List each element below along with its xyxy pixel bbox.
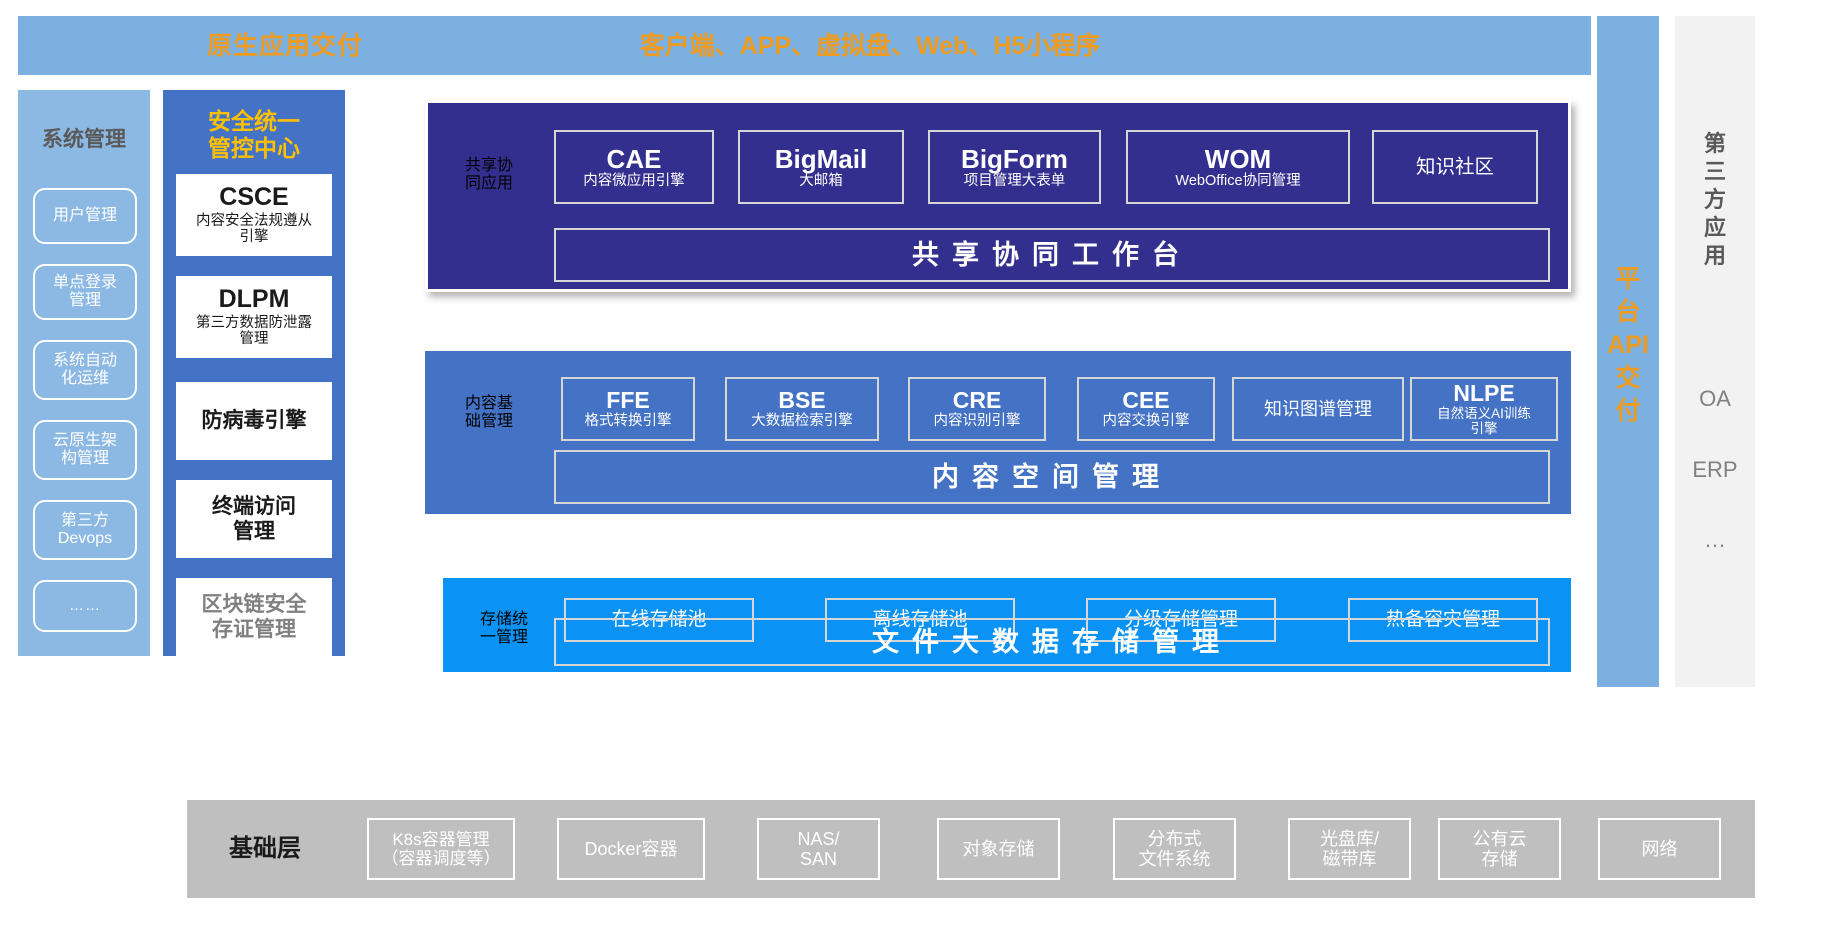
base-item-k8s[interactable]: K8s容器管理（容器调度等） <box>367 818 515 880</box>
content-space-management-bar[interactable]: 内容空间管理 <box>554 450 1550 504</box>
engine-card-nlpe-desc: 自然语义AI训练引擎 <box>1437 406 1531 436</box>
engine-card-nlpe-code: NLPE <box>1453 381 1514 406</box>
security-control-center-title: 安全统一管控中心 <box>163 102 345 168</box>
security-card-csce-code: CSCE <box>219 184 288 212</box>
app-card-wom-code: WOM <box>1205 145 1271 173</box>
app-card-bigmail[interactable]: BigMail 大邮箱 <box>738 130 904 204</box>
security-card-csce[interactable]: CSCE 内容安全法规遵从引擎 <box>176 174 332 256</box>
security-card-blockchain-evidence-label: 区块链安全存证管理 <box>202 592 307 642</box>
content-management-label: 内容基础管理 <box>434 378 544 448</box>
base-item-network[interactable]: 网络 <box>1598 818 1721 880</box>
base-item-docker[interactable]: Docker容器 <box>557 818 705 880</box>
security-card-antivirus-engine-label: 防病毒引擎 <box>202 408 307 433</box>
base-layer-title: 基础层 <box>205 826 325 872</box>
third-party-app-title: 第三方应用 <box>1675 110 1755 290</box>
engine-card-ffe-desc: 格式转换引擎 <box>585 413 672 429</box>
app-card-bigmail-desc: 大邮箱 <box>799 173 843 189</box>
third-party-item-oa: OA <box>1699 387 1731 412</box>
app-card-cae[interactable]: CAE 内容微应用引擎 <box>554 130 714 204</box>
base-item-optical-tape-library[interactable]: 光盘库/磁带库 <box>1288 818 1411 880</box>
app-card-wom-desc: WebOffice协同管理 <box>1175 173 1300 189</box>
security-card-blockchain-evidence[interactable]: 区块链安全存证管理 <box>176 578 332 656</box>
engine-card-cee-desc: 内容交换引擎 <box>1103 413 1190 429</box>
base-item-distributed-fs[interactable]: 分布式文件系统 <box>1113 818 1236 880</box>
base-item-public-cloud-storage[interactable]: 公有云存储 <box>1438 818 1561 880</box>
app-card-knowledge-community[interactable]: 知识社区 <box>1372 130 1538 204</box>
sidebar-item-third-party-devops[interactable]: 第三方Devops <box>33 500 137 560</box>
base-item-object-storage[interactable]: 对象存储 <box>937 818 1060 880</box>
app-card-knowledge-community-label: 知识社区 <box>1416 156 1494 178</box>
third-party-item-erp: ERP <box>1692 458 1737 483</box>
app-card-bigform-code: BigForm <box>961 145 1068 173</box>
third-party-item-more: … <box>1704 528 1726 553</box>
system-management-title: 系统管理 <box>18 120 150 160</box>
sidebar-item-more[interactable]: …… <box>33 580 137 632</box>
app-card-bigform[interactable]: BigForm 项目管理大表单 <box>928 130 1101 204</box>
third-party-app-list: OA ERP … <box>1675 370 1755 570</box>
engine-card-cee[interactable]: CEE 内容交换引擎 <box>1077 377 1215 441</box>
engine-card-knowledge-graph-label: 知识图谱管理 <box>1264 399 1372 420</box>
engine-card-ffe-code: FFE <box>606 388 649 413</box>
engine-card-cee-code: CEE <box>1122 388 1169 413</box>
engine-card-bse-code: BSE <box>778 388 825 413</box>
sidebar-item-sso-management[interactable]: 单点登录管理 <box>33 264 137 320</box>
sidebar-item-automated-ops[interactable]: 系统自动化运维 <box>33 340 137 400</box>
app-card-cae-code: CAE <box>607 145 662 173</box>
native-app-delivery-label: 原生应用交付 <box>170 16 400 75</box>
client-channels-label: 客户端、APP、虚拟盘、Web、H5小程序 <box>545 16 1195 75</box>
app-card-bigmail-code: BigMail <box>775 145 867 173</box>
base-item-nas-san[interactable]: NAS/SAN <box>757 818 880 880</box>
engine-card-cre[interactable]: CRE 内容识别引擎 <box>908 377 1046 441</box>
security-card-endpoint-access-label: 终端访问管理 <box>212 494 296 544</box>
security-card-antivirus-engine[interactable]: 防病毒引擎 <box>176 382 332 460</box>
sidebar-item-user-management[interactable]: 用户管理 <box>33 188 137 244</box>
share-collaboration-workbench-bar[interactable]: 共享协同工作台 <box>554 228 1550 282</box>
app-card-cae-desc: 内容微应用引擎 <box>583 173 685 189</box>
app-card-wom[interactable]: WOM WebOffice协同管理 <box>1126 130 1350 204</box>
engine-card-knowledge-graph[interactable]: 知识图谱管理 <box>1232 377 1404 441</box>
storage-management-label: 存储统一管理 <box>450 598 558 660</box>
sidebar-item-cloud-native-architecture[interactable]: 云原生架构管理 <box>33 420 137 480</box>
security-card-endpoint-access[interactable]: 终端访问管理 <box>176 480 332 558</box>
engine-card-cre-desc: 内容识别引擎 <box>934 413 1021 429</box>
engine-card-cre-code: CRE <box>953 388 1002 413</box>
share-collaboration-label: 共享协同应用 <box>434 140 544 210</box>
security-card-dlpm-desc: 第三方数据防泄露管理 <box>196 315 312 348</box>
engine-card-nlpe[interactable]: NLPE 自然语义AI训练引擎 <box>1410 377 1558 441</box>
engine-card-bse[interactable]: BSE 大数据检索引擎 <box>725 377 879 441</box>
architecture-diagram: 原生应用交付 客户端、APP、虚拟盘、Web、H5小程序 系统管理 用户管理 单… <box>0 0 1823 928</box>
app-card-bigform-desc: 项目管理大表单 <box>964 173 1066 189</box>
security-card-dlpm[interactable]: DLPM 第三方数据防泄露管理 <box>176 276 332 358</box>
engine-card-bse-desc: 大数据检索引擎 <box>751 413 853 429</box>
engine-card-ffe[interactable]: FFE 格式转换引擎 <box>561 377 695 441</box>
file-bigdata-storage-bar[interactable]: 文件大数据存储管理 <box>554 618 1550 666</box>
security-card-dlpm-code: DLPM <box>219 286 290 314</box>
platform-api-label: 平台API交付 <box>1597 215 1659 475</box>
security-card-csce-desc: 内容安全法规遵从引擎 <box>196 213 312 246</box>
